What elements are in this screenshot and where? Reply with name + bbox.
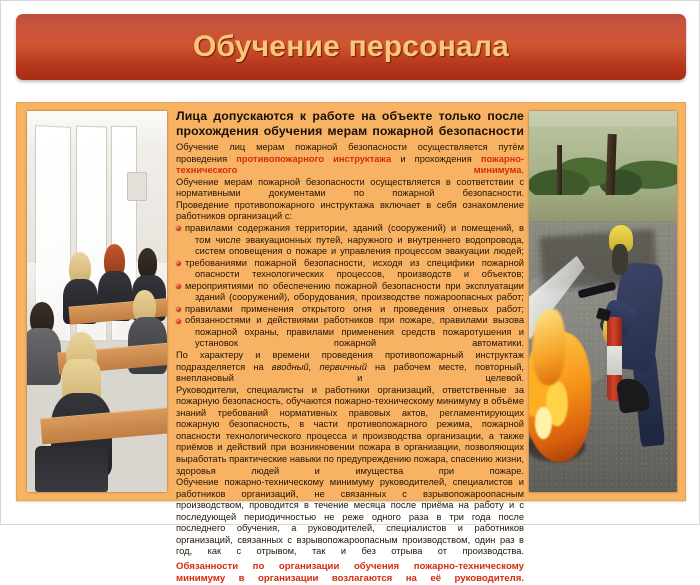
briefing-topics-list: правилами содержания территории, зданий … [176,223,524,350]
slide-root: Обучение персонала [0,0,700,525]
bullet-dot-icon [176,284,181,289]
highlight-fire-briefing: противопожарного инструктажа [236,154,391,164]
list-item: правилами применения открытого огня и пр… [176,304,524,316]
slide-body-text: Лица допускаются к работе на объекте тол… [176,109,524,494]
fire-extinguisher-drill-photo [529,111,677,492]
slide-title-bar: Обучение персонала [16,14,686,80]
paragraph-responsible-persons: Руководители, специалисты и работники ор… [176,385,524,477]
bullet-dot-icon [176,226,181,231]
list-item-label: мероприятиями по обеспечению пожарной бе… [185,281,524,304]
page-title: Обучение персонала [193,30,509,64]
bullet-dot-icon [176,261,181,266]
list-item: правилами содержания территории, зданий … [176,223,524,258]
list-item-label: требованиями пожарной безопасности, исхо… [185,258,524,281]
list-item-label: обязанностями и действиями работников пр… [185,315,524,350]
paragraph-briefing-types: По характеру и времени проведения против… [176,350,524,385]
p1-part-c: . [521,165,524,175]
classroom-training-photo [27,111,167,492]
bullet-dot-icon [176,307,181,312]
list-item-label: правилами содержания территории, зданий … [185,223,524,258]
p1-part-b: и прохождения [391,154,481,164]
paragraph-training-frequency: Обучение пожарно-техническому минимуму р… [176,477,524,558]
list-item: обязанностями и действиями работников пр… [176,315,524,350]
list-item: мероприятиями по обеспечению пожарной бе… [176,281,524,304]
closing-obligation-statement: Обязанности по организации обучения пожа… [176,561,524,585]
italic-briefing-types: вводный, первичный [272,362,367,372]
paragraph-normative-documents: Обучение мерам пожарной безопасности осу… [176,177,524,200]
bullet-dot-icon [176,319,181,324]
lead-statement: Лица допускаются к работе на объекте тол… [176,109,524,138]
paragraph-training-methods: Обучение лиц мерам пожарной безопасности… [176,142,524,177]
list-item-label: правилами применения открытого огня и пр… [185,304,524,316]
list-item: требованиями пожарной безопасности, исхо… [176,258,524,281]
paragraph-briefing-intro: Проведение противопожарного инструктажа … [176,200,524,223]
